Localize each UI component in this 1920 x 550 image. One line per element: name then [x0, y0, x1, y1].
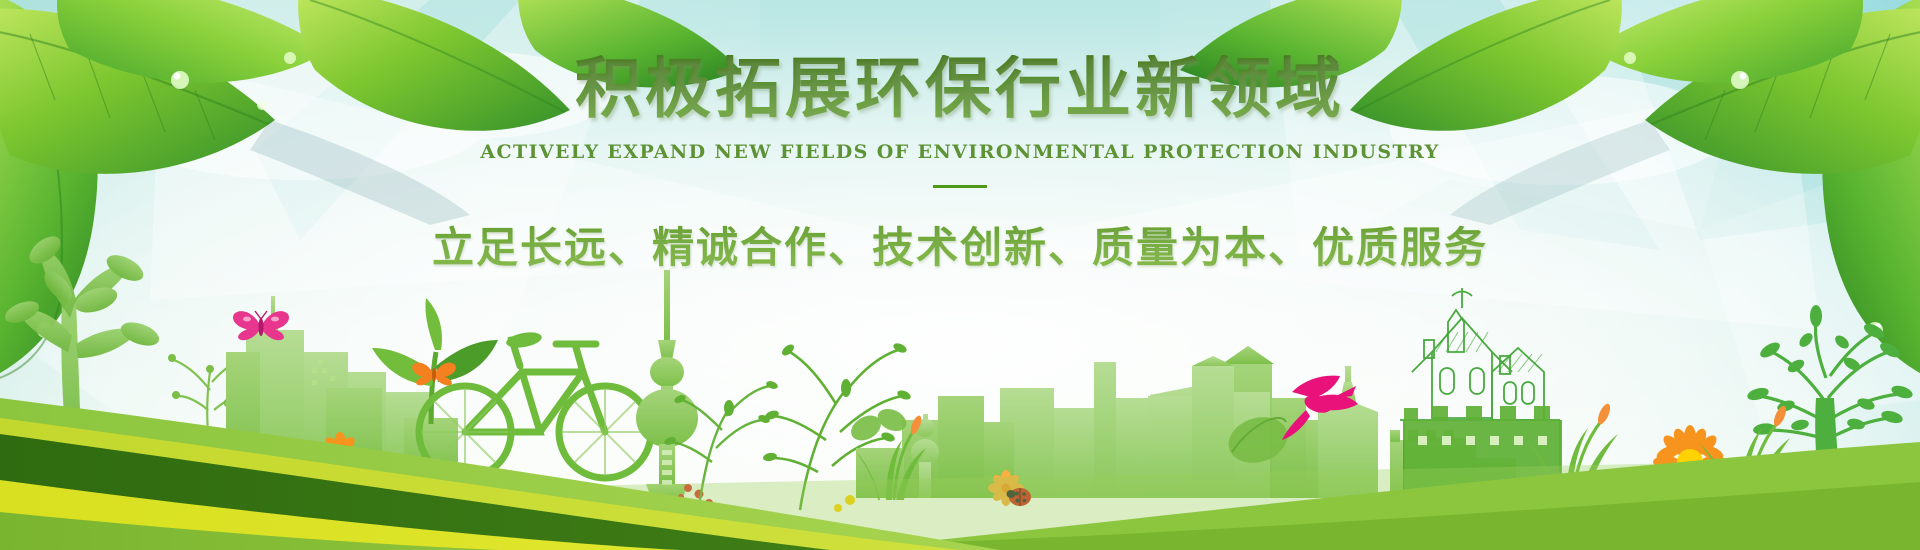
- wave-bands: [0, 0, 1920, 550]
- eco-banner: 积极拓展环保行业新领域 ACTIVELY EXPAND NEW FIELDS O…: [0, 0, 1920, 550]
